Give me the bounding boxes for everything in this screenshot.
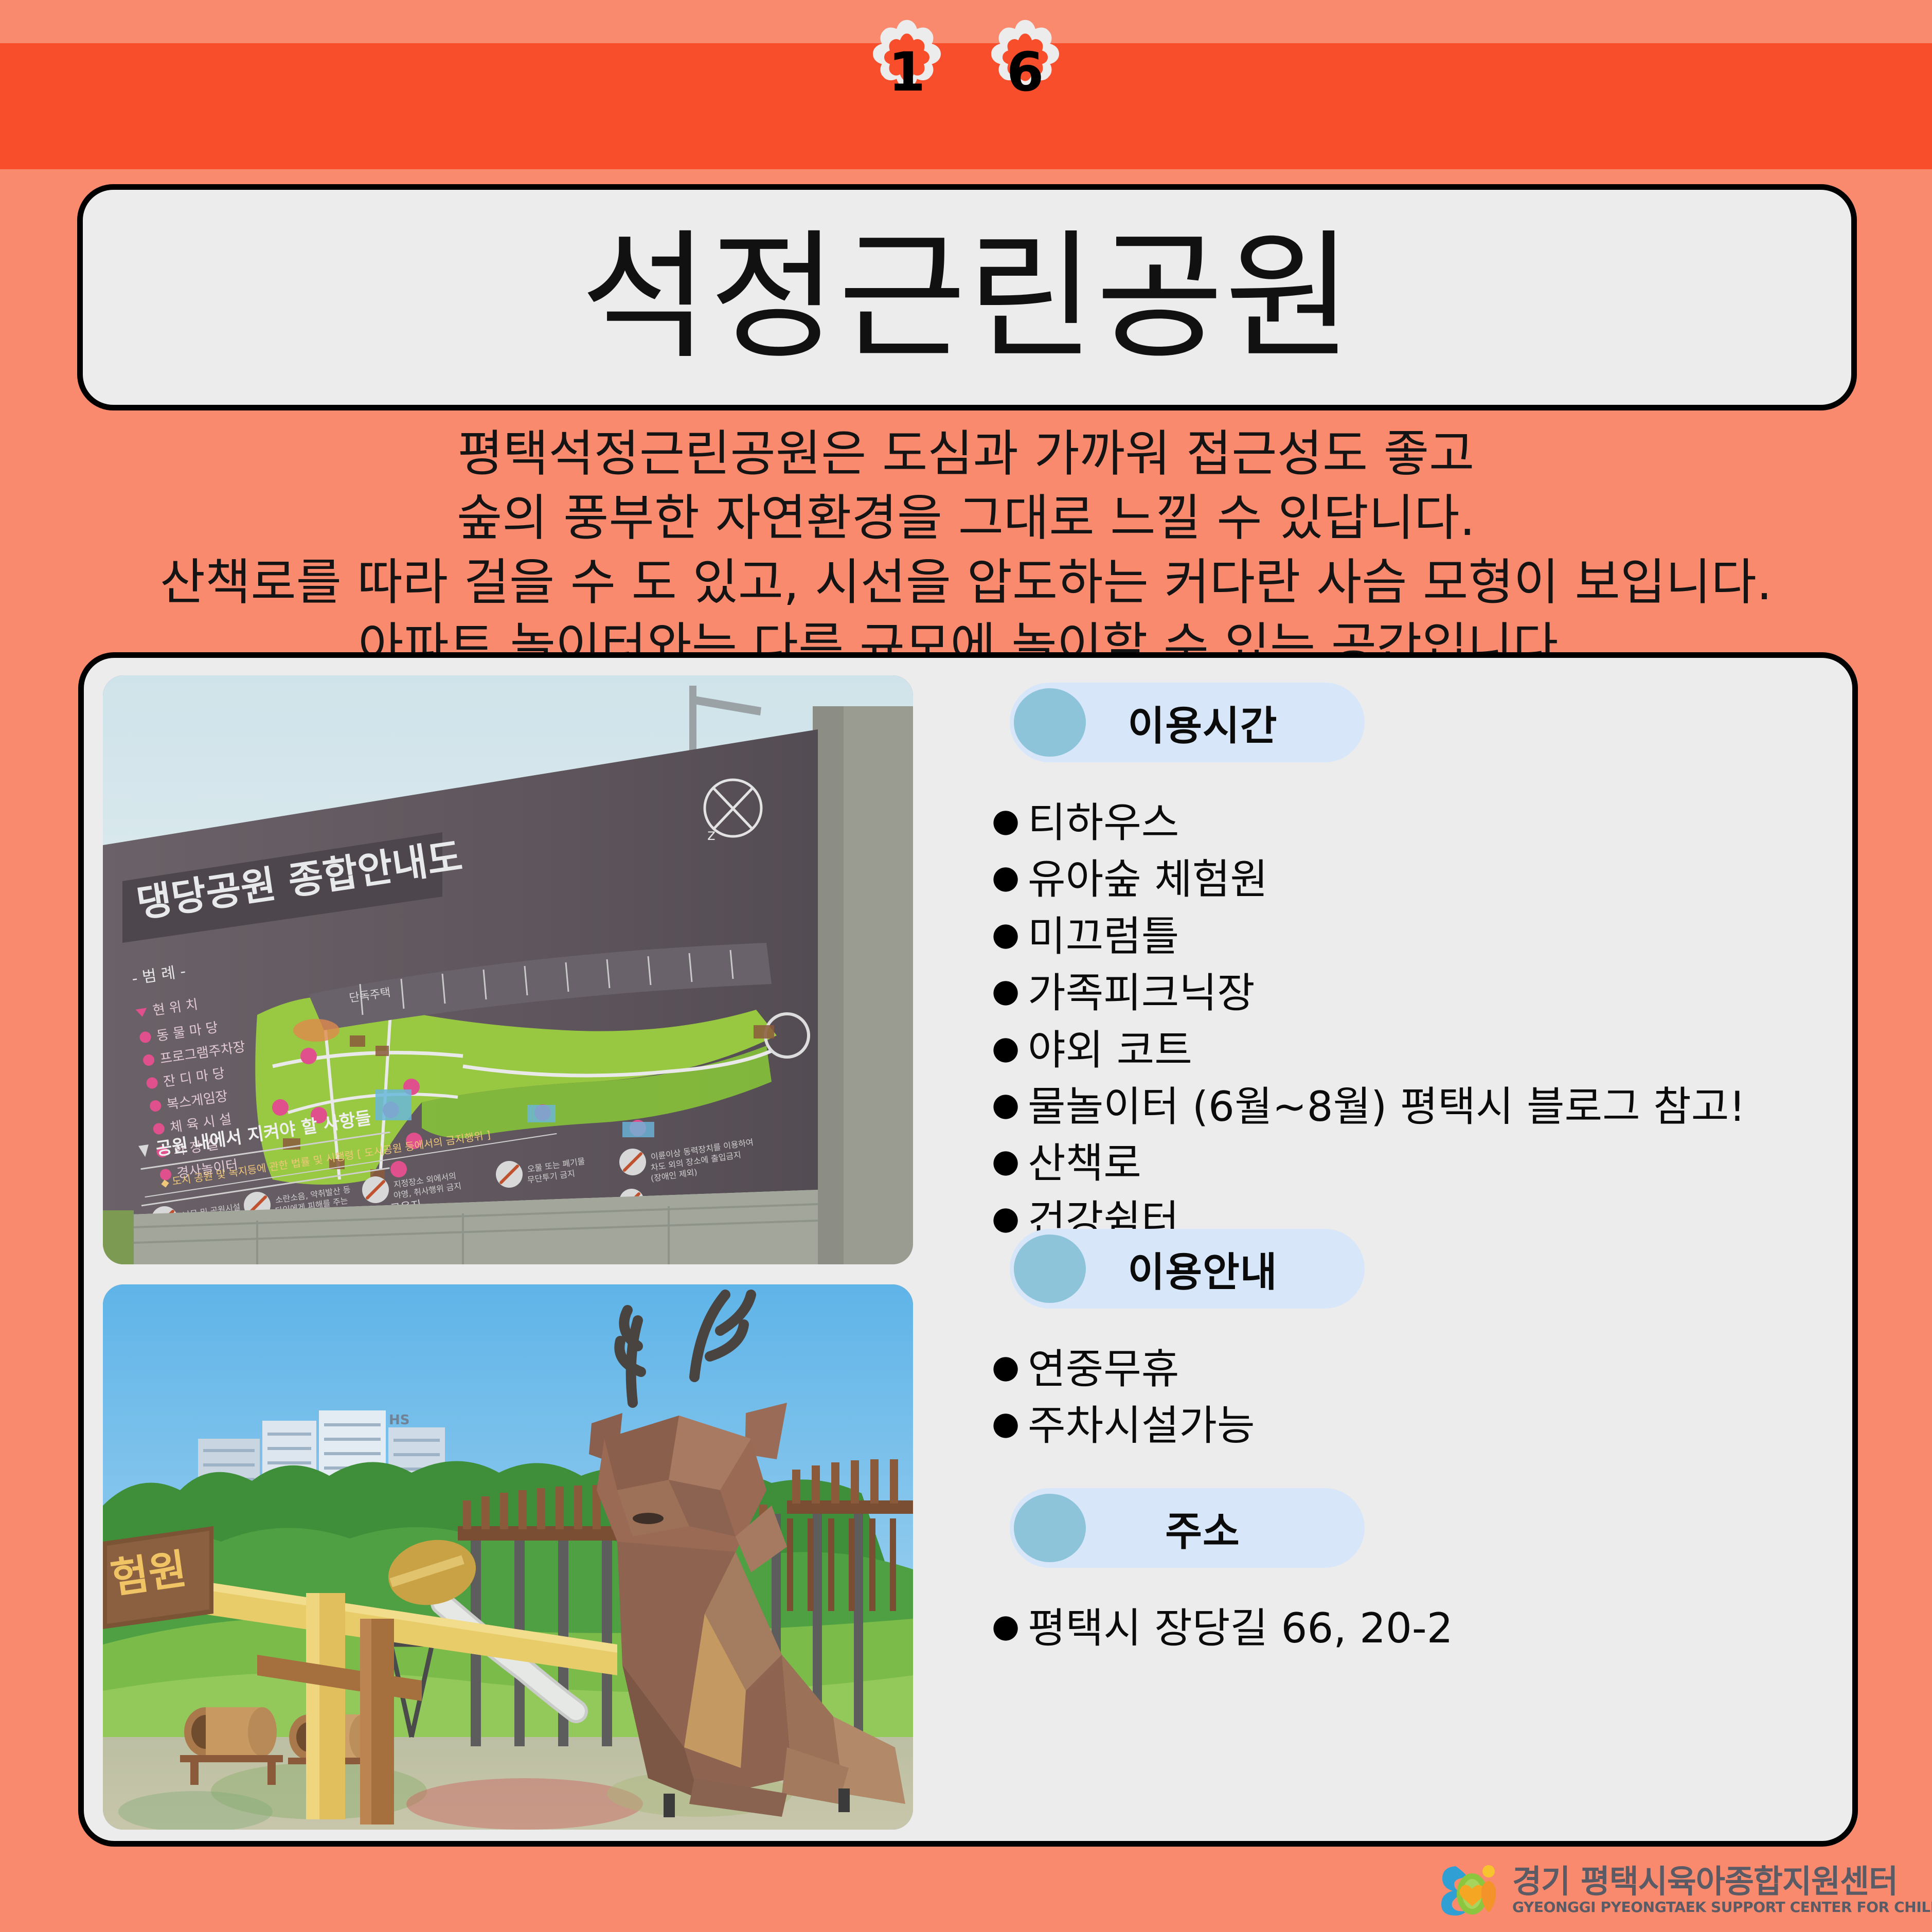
list-item-label: 티하우스 <box>1028 795 1179 851</box>
list-item-label: 가족피크닉장 <box>1028 965 1255 1022</box>
section-dot-icon <box>1014 1235 1086 1303</box>
list-item: ●유아숲 체험원 <box>992 851 1745 908</box>
park-map-signboard-photo: 댕당공원 종합안내도 z - 범 례 - 현 위 치 동 물 마 당 프로그램주… <box>103 675 913 1264</box>
bullet-icon: ● <box>992 908 1028 959</box>
list-item-label: 산책로 <box>1028 1135 1141 1192</box>
org-name-english: GYEONGGI PYEONGTAEK SUPPORT CENTER FOR C… <box>1512 1900 1932 1916</box>
list-item: ●산책로 <box>992 1135 1745 1192</box>
bullet-icon: ● <box>992 1192 1028 1243</box>
svg-text:HS: HS <box>389 1412 410 1428</box>
deer-sculpture-playground-photo: HS <box>103 1284 913 1830</box>
badge-six-number: 6 <box>969 15 1082 129</box>
section-heading-usage-guide: 이용안내 <box>1010 1229 1365 1309</box>
list-item: ●가족피크닉장 <box>992 965 1745 1022</box>
address-value: 평택시 장당길 66, 20-2 <box>1028 1600 1453 1657</box>
bullet-icon: ● <box>992 795 1028 846</box>
org-name-korean: 경기 평택시육아종합지원센터 <box>1512 1865 1932 1898</box>
list-item: ●평택시 장당길 66, 20-2 <box>992 1600 1453 1657</box>
list-item-label: 연중무휴 <box>1028 1341 1179 1398</box>
signboard-illustration: 댕당공원 종합안내도 z - 범 례 - 현 위 치 동 물 마 당 프로그램주… <box>103 675 913 1264</box>
section-dot-icon <box>1014 688 1086 757</box>
usage-guide-list: ●연중무휴 ●주차시설가능 <box>992 1341 1255 1455</box>
section-dot-icon <box>1014 1494 1086 1562</box>
list-item-label: 야외 코트 <box>1028 1022 1192 1079</box>
usage-guide-label: 이용안내 <box>1097 1240 1277 1298</box>
content-panel: 댕당공원 종합안내도 z - 범 례 - 현 위 치 동 물 마 당 프로그램주… <box>78 652 1858 1847</box>
address-list: ●평택시 장당길 66, 20-2 <box>992 1600 1453 1657</box>
list-item-label: 유아숲 체험원 <box>1028 851 1268 908</box>
list-item: ●야외 코트 <box>992 1022 1745 1079</box>
flower-badge-six: 6 <box>969 15 1082 129</box>
bullet-icon: ● <box>992 1341 1028 1392</box>
bullet-icon: ● <box>992 1398 1028 1448</box>
usage-hours-list: ●티하우스 ●유아숲 체험원 ●미끄럼틀 ●가족피크닉장 ●야외 코트 ●물놀이… <box>992 795 1745 1249</box>
list-item: ●물놀이터 (6월~8월) 평택시 블로그 참고! <box>992 1079 1745 1135</box>
description-line-3: 산책로를 따라 걸을 수 도 있고, 시선을 압도하는 커다란 사슴 모형이 보… <box>0 550 1932 615</box>
section-heading-address: 주소 <box>1010 1488 1365 1568</box>
page-title-box: 석정근린공원 <box>77 184 1857 410</box>
info-sections: 이용시간 ●티하우스 ●유아숲 체험원 ●미끄럼틀 ●가족피크닉장 ●야외 코트… <box>935 683 1840 1830</box>
info-card: 1 6 석정근린공원 평택석정근린공원은 도심과 가까워 접근성도 좋고 숲의 … <box>0 0 1932 1932</box>
page-number-badges: 1 6 <box>0 15 1932 129</box>
svg-text:z: z <box>707 826 715 844</box>
list-item: ●미끄럼틀 <box>992 908 1745 965</box>
bullet-icon: ● <box>992 965 1028 1016</box>
description-line-1: 평택석정근린공원은 도심과 가까워 접근성도 좋고 <box>0 422 1932 486</box>
address-label: 주소 <box>1134 1499 1240 1557</box>
childcare-center-mark-icon <box>1435 1859 1503 1921</box>
bullet-icon: ● <box>992 1022 1028 1073</box>
usage-hours-label: 이용시간 <box>1097 694 1277 752</box>
list-item-label: 물놀이터 (6월~8월) 평택시 블로그 참고! <box>1028 1079 1745 1135</box>
page-title: 석정근린공원 <box>581 228 1353 367</box>
section-heading-usage-hours: 이용시간 <box>1010 683 1365 762</box>
organization-wordmark: 경기 평택시육아종합지원센터 GYEONGGI PYEONGTAEK SUPPO… <box>1512 1865 1932 1916</box>
bullet-icon: ● <box>992 1600 1028 1651</box>
list-item-label: 주차시설가능 <box>1028 1398 1255 1454</box>
list-item-label: 미끄럼틀 <box>1028 908 1179 965</box>
description-block: 평택석정근린공원은 도심과 가까워 접근성도 좋고 숲의 풍부한 자연환경을 그… <box>0 422 1932 678</box>
flower-badge-one: 1 <box>850 15 963 129</box>
bullet-icon: ● <box>992 851 1028 902</box>
list-item: ●연중무휴 <box>992 1341 1255 1398</box>
list-item: ●티하우스 <box>992 795 1745 851</box>
bullet-icon: ● <box>992 1135 1028 1186</box>
badge-one-number: 1 <box>850 15 963 129</box>
deer-playground-illustration: HS <box>103 1284 913 1830</box>
bullet-icon: ● <box>992 1079 1028 1130</box>
organization-logo: 경기 평택시육아종합지원센터 GYEONGGI PYEONGTAEK SUPPO… <box>1435 1859 1898 1921</box>
description-line-2: 숲의 풍부한 자연환경을 그대로 느낄 수 있답니다. <box>0 486 1932 550</box>
list-item: ●주차시설가능 <box>992 1398 1255 1454</box>
